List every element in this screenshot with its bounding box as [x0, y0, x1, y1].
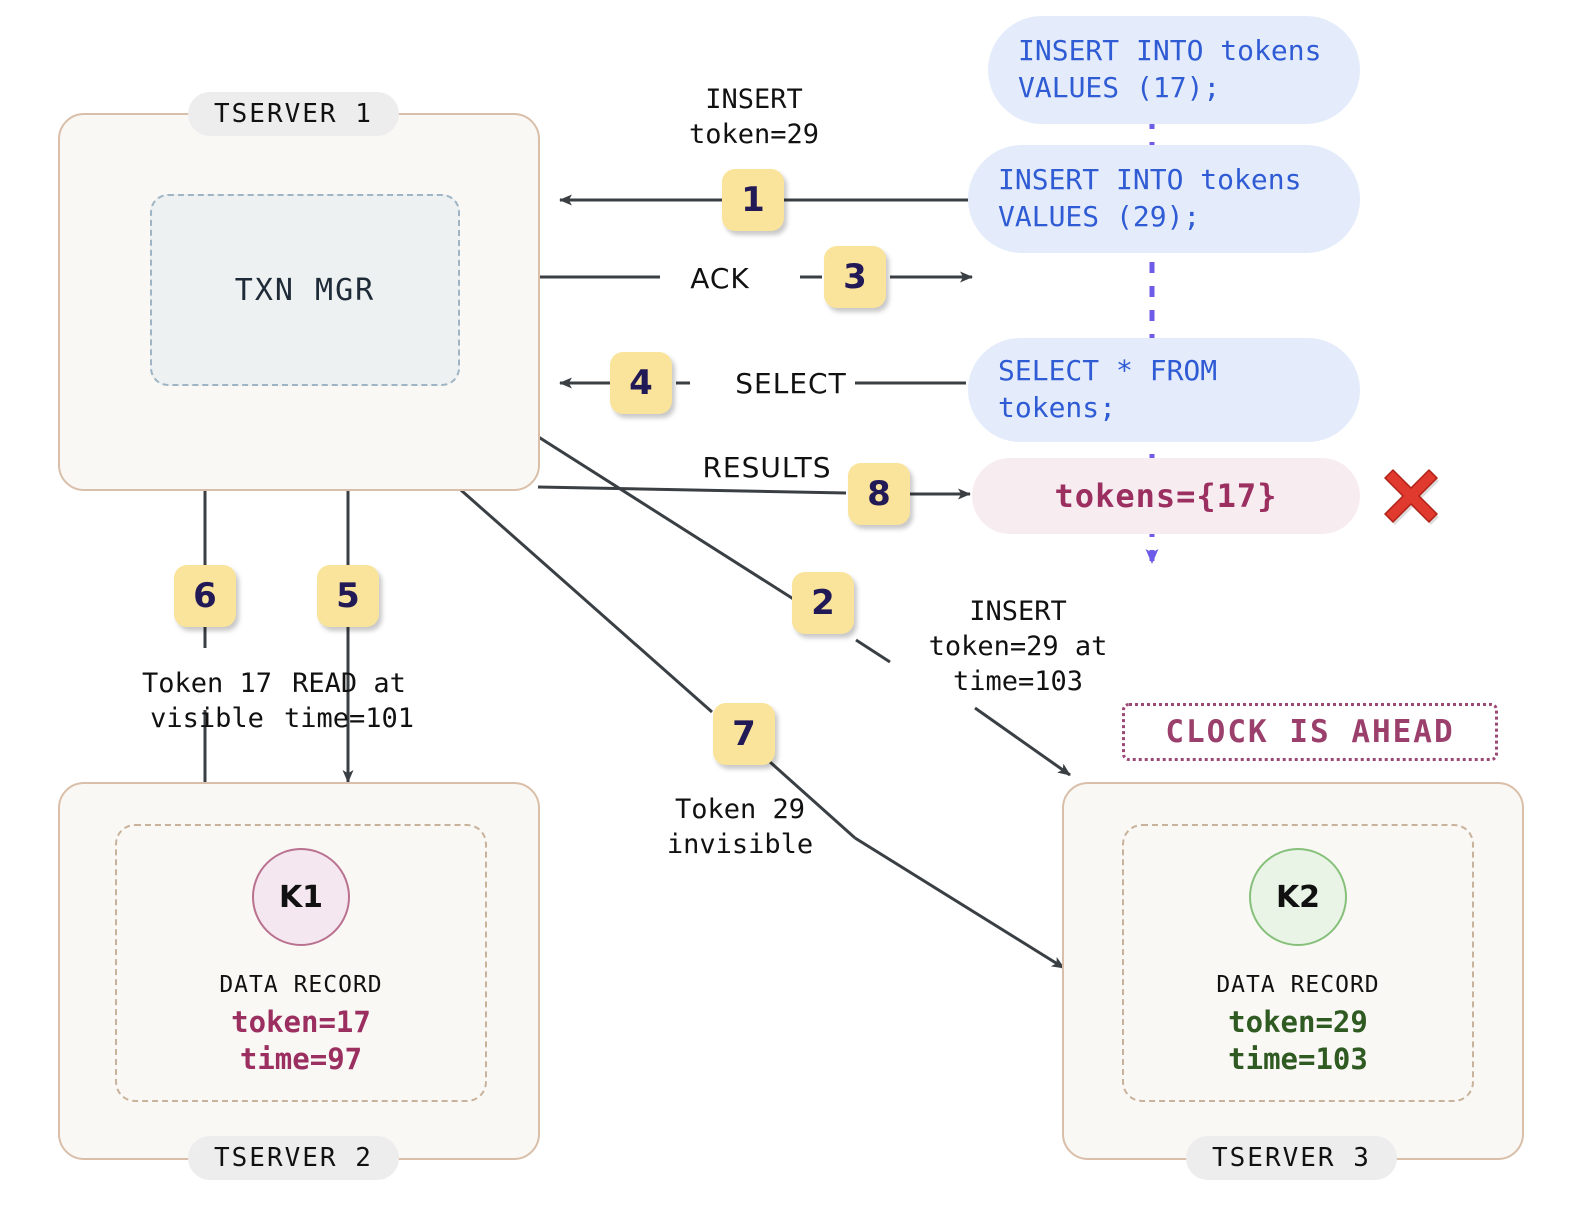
- step-3-label: ACK: [640, 261, 800, 297]
- txn-manager-box: TXN MGR: [150, 194, 460, 386]
- sql-bubble-insert-17: INSERT INTO tokens VALUES (17);: [988, 16, 1360, 124]
- tserver-3-time: time=103: [1228, 1041, 1368, 1078]
- step-badge-5[interactable]: 5: [317, 565, 379, 627]
- step-badge-1[interactable]: 1: [722, 169, 784, 231]
- step-badge-4[interactable]: 4: [610, 352, 672, 414]
- arrow-step-2-b: [856, 640, 890, 662]
- tserver-2-key-circle: K1: [252, 848, 350, 946]
- tserver-2-record: K1 DATA RECORD token=17 time=97: [115, 824, 487, 1102]
- step-badge-6[interactable]: 6: [174, 565, 236, 627]
- step-7-label: Token 29 invisible: [634, 792, 846, 862]
- tserver-3-record-title: DATA RECORD: [1216, 972, 1379, 998]
- step-8-label: RESULTS: [672, 450, 862, 486]
- tserver-3-token: token=29: [1228, 1004, 1368, 1041]
- tserver-2-token: token=17: [231, 1004, 371, 1041]
- arrow-insert-ts3: [975, 708, 1070, 775]
- tserver-3-record: K2 DATA RECORD token=29 time=103: [1122, 824, 1474, 1102]
- sql-insert-29-line2: VALUES (29);: [998, 199, 1330, 236]
- step-badge-7[interactable]: 7: [713, 703, 775, 765]
- diagram-canvas: TSERVER 1 TXN MGR TSERVER 2 K1 DATA RECO…: [0, 0, 1576, 1216]
- tserver-2-record-title: DATA RECORD: [219, 972, 382, 998]
- sql-bubble-insert-29: INSERT INTO tokens VALUES (29);: [968, 145, 1360, 253]
- tserver-3-key-circle: K2: [1249, 848, 1347, 946]
- red-x-icon: [1378, 463, 1444, 529]
- tserver-2-label: TSERVER 2: [188, 1136, 399, 1180]
- step-badge-8[interactable]: 8: [848, 463, 910, 525]
- result-bubble-tokens: tokens={17}: [972, 458, 1360, 534]
- step-4-label: SELECT: [696, 366, 886, 402]
- sql-insert-17-line2: VALUES (17);: [1018, 70, 1330, 107]
- step-5-label: READ at time=101: [242, 666, 456, 736]
- sql-select-line2: tokens;: [998, 390, 1330, 427]
- step-badge-3[interactable]: 3: [824, 246, 886, 308]
- sql-insert-17-line1: INSERT INTO tokens: [1018, 33, 1330, 70]
- tserver-2-time: time=97: [240, 1041, 362, 1078]
- arrow-step-7-c: [855, 838, 1064, 968]
- arrow-step-8-a: [538, 487, 846, 493]
- clock-ahead-warning: CLOCK IS AHEAD: [1122, 703, 1498, 761]
- sql-insert-29-line1: INSERT INTO tokens: [998, 162, 1330, 199]
- step-2-label: INSERT token=29 at time=103: [888, 594, 1148, 699]
- step-1-label: INSERT token=29: [604, 82, 904, 152]
- sql-bubble-select: SELECT * FROM tokens;: [968, 338, 1360, 442]
- sql-select-line1: SELECT * FROM: [998, 353, 1330, 390]
- tserver-3-label: TSERVER 3: [1186, 1136, 1397, 1180]
- step-badge-2[interactable]: 2: [792, 572, 854, 634]
- tserver-1-label: TSERVER 1: [188, 92, 399, 136]
